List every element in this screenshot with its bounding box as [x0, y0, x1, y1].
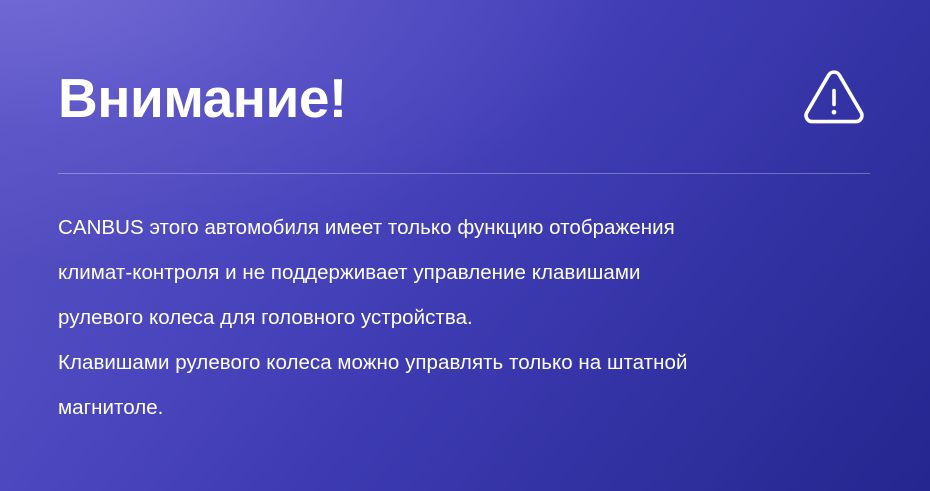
- page-title: Внимание!: [58, 66, 347, 130]
- warning-banner: Внимание! CANBUS этого автомобиля имеет …: [0, 0, 930, 491]
- body-line: Клавишами рулевого колеса можно управлят…: [58, 340, 894, 385]
- body-line: CANBUS этого автомобиля имеет только фун…: [58, 205, 894, 250]
- banner-header: Внимание!: [58, 52, 870, 144]
- body-line: магнитоле.: [58, 385, 894, 430]
- body-line: рулевого колеса для головного устройства…: [58, 295, 894, 340]
- warning-triangle-icon: [802, 68, 870, 128]
- body-line: климат-контроля и не поддерживает управл…: [58, 250, 894, 295]
- banner-body: CANBUS этого автомобиля имеет только фун…: [58, 205, 894, 430]
- header-divider: [58, 173, 870, 174]
